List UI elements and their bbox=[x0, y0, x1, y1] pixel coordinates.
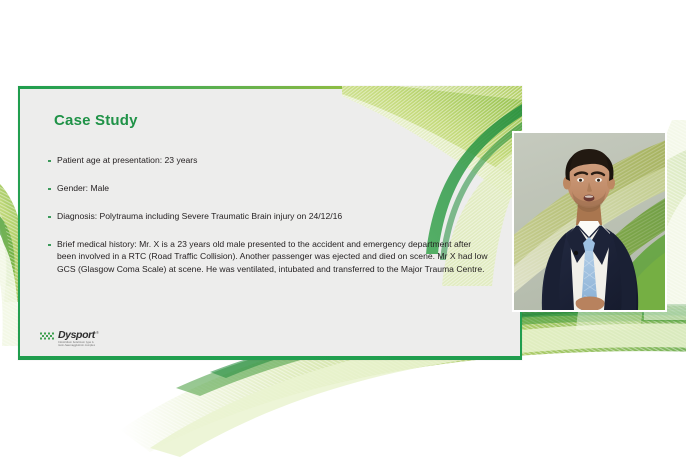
presenter-video[interactable] bbox=[512, 131, 667, 312]
page-title: Case Study bbox=[54, 112, 138, 129]
slide-border-bottom bbox=[18, 356, 522, 360]
square-bullet-icon bbox=[48, 154, 57, 168]
square-bullet-icon bbox=[48, 182, 57, 196]
list-item-text: Brief medical history: Mr. X is a 23 yea… bbox=[57, 238, 488, 275]
slide-border-top bbox=[18, 86, 522, 89]
list-item-text: Diagnosis: Polytrauma including Severe T… bbox=[57, 210, 488, 222]
list-item-text: Patient age at presentation: 23 years bbox=[57, 154, 488, 166]
list-item: Gender: Male bbox=[48, 182, 488, 196]
presenter-video-frame bbox=[514, 133, 665, 310]
dysport-wordmark: Dysport bbox=[58, 329, 95, 341]
list-item: Brief medical history: Mr. X is a 23 yea… bbox=[48, 238, 488, 275]
slide-stage: Case Study Patient age at presentation: … bbox=[0, 0, 686, 457]
dysport-logo-subtext-line2: toxin-haemagglutinin complex bbox=[58, 344, 106, 347]
list-item: Diagnosis: Polytrauma including Severe T… bbox=[48, 210, 488, 224]
square-bullet-icon bbox=[48, 210, 57, 224]
bullet-list: Patient age at presentation: 23 years Ge… bbox=[48, 154, 488, 275]
list-item-text: Gender: Male bbox=[57, 182, 488, 194]
trademark-symbol: ® bbox=[96, 330, 99, 335]
presentation-slide[interactable]: Case Study Patient age at presentation: … bbox=[18, 86, 522, 360]
square-bullet-icon bbox=[48, 238, 57, 252]
list-item: Patient age at presentation: 23 years bbox=[48, 154, 488, 168]
slide-border-left bbox=[18, 86, 20, 360]
dysport-logo-mark bbox=[40, 331, 56, 342]
dysport-logo-subtext: Clostridium botulinum type A toxin-haema… bbox=[58, 341, 106, 348]
dysport-logo: Dysport ® Clostridium botulinum type A t… bbox=[40, 329, 102, 351]
